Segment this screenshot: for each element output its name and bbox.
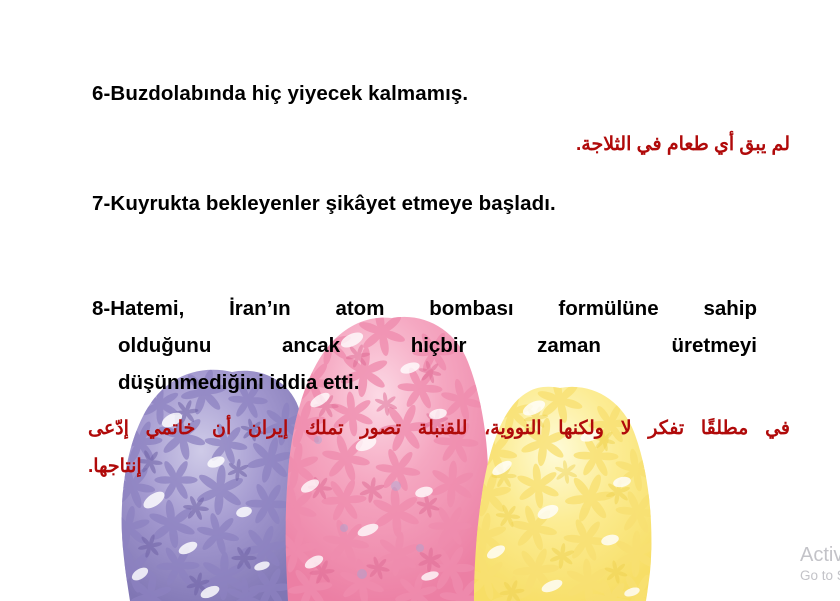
slide-canvas: 6-Buzdolabında hiç yiyecek kalmamış. لم …	[0, 0, 840, 601]
activate-windows-watermark: Activate Windows Go to Settings to activ…	[800, 543, 840, 584]
turkish-sentence-6: 6-Buzdolabında hiç yiyecek kalmamış.	[92, 82, 468, 106]
arabic-translation-8-line-2: إنتاجها.	[88, 448, 790, 486]
word: formülüne	[558, 290, 658, 327]
word: 8-Hatemi,	[92, 290, 184, 327]
word: bombası	[429, 290, 513, 327]
word: hiçbir	[411, 327, 467, 364]
arabic-translation-8-line-1: إدّعى خاتمي أن إيران تملك تصور للقنبلة ا…	[88, 410, 790, 448]
word: إنتاجها.	[88, 448, 142, 486]
word: ancak	[282, 327, 340, 364]
watermark-subtitle: Go to Settings to activate Windows.	[800, 567, 840, 584]
slide-text-content: 6-Buzdolabında hiç yiyecek kalmamış. لم …	[0, 0, 840, 601]
word: İran’ın	[229, 290, 291, 327]
word: zaman	[537, 327, 601, 364]
word: sahip	[703, 290, 757, 327]
word: للقنبلة	[418, 410, 468, 448]
turkish-sentence-7: 7-Kuyrukta bekleyenler şikâyet etmeye ba…	[92, 192, 556, 216]
word: خاتمي	[146, 410, 196, 448]
word: atom	[335, 290, 384, 327]
turkish-sentence-8-line-2: olduğunu ancak hiçbir zaman üretmeyi	[92, 327, 757, 364]
word: تفكر	[648, 410, 684, 448]
word: ولكنها	[558, 410, 604, 448]
turkish-sentence-8-line-3: düşünmediğini iddia etti.	[92, 364, 757, 401]
turkish-sentence-8-line-1: 8-Hatemi, İran’ın atom bombası formülüne…	[92, 290, 757, 327]
word: تصور	[360, 410, 401, 448]
turkish-sentence-8: 8-Hatemi, İran’ın atom bombası formülüne…	[92, 290, 757, 401]
word: النووية،	[484, 410, 541, 448]
word: üretmeyi	[672, 327, 757, 364]
watermark-title: Activate Windows	[800, 543, 840, 567]
word: olduğunu	[118, 327, 211, 364]
word: إيران	[248, 410, 288, 448]
word: تملك	[305, 410, 344, 448]
word: إدّعى	[88, 410, 129, 448]
word: لا	[621, 410, 632, 448]
arabic-translation-8: إدّعى خاتمي أن إيران تملك تصور للقنبلة ا…	[88, 410, 790, 486]
word: مطلقًا	[701, 410, 748, 448]
word: أن	[212, 410, 231, 448]
word: في	[765, 410, 790, 448]
arabic-translation-6: لم يبق أي طعام في الثلاجة.	[576, 133, 790, 156]
word: düşünmediğini iddia etti.	[118, 364, 359, 401]
